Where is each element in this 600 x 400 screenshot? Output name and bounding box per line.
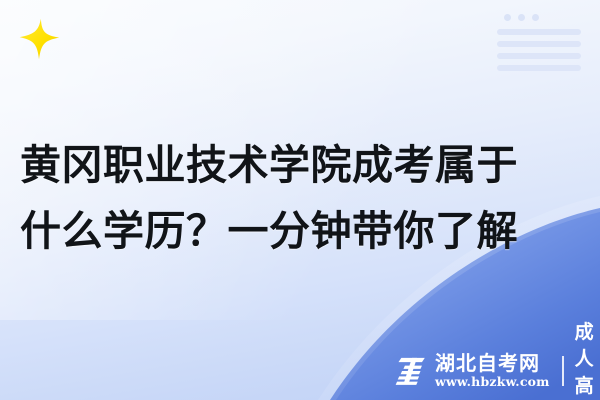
logo-site-url: www.hbzkw.com <box>435 374 550 389</box>
window-lines <box>497 29 581 71</box>
window-dots <box>504 14 539 21</box>
window-line <box>497 29 581 35</box>
window-dot <box>504 14 511 21</box>
logo-site-name: 湖北自考网 <box>435 353 550 374</box>
window-line <box>497 53 581 59</box>
headline-line-2: 什么学历？一分钟带你了解 <box>20 198 586 264</box>
hbzkw-z-logo-icon <box>394 355 430 387</box>
promo-banner: 黄冈职业技术学院成考属于 什么学历？一分钟带你了解 湖北自考网 www.hbzk… <box>0 0 600 400</box>
sparkle-star-icon <box>16 16 62 62</box>
window-dot <box>532 14 539 21</box>
headline: 黄冈职业技术学院成考属于 什么学历？一分钟带你了解 <box>20 132 586 264</box>
site-logo-lockup[interactable]: 湖北自考网 www.hbzkw.com 成人高考 <box>394 350 600 392</box>
logo-tagline: 成人高考 <box>575 317 600 400</box>
headline-line-1: 黄冈职业技术学院成考属于 <box>20 132 586 198</box>
window-dot <box>518 14 525 21</box>
window-line <box>497 65 581 71</box>
window-line <box>497 41 581 47</box>
logo-divider <box>562 356 564 386</box>
logo-text-block: 湖北自考网 www.hbzkw.com <box>435 352 550 390</box>
document-lines-icon <box>496 10 582 68</box>
